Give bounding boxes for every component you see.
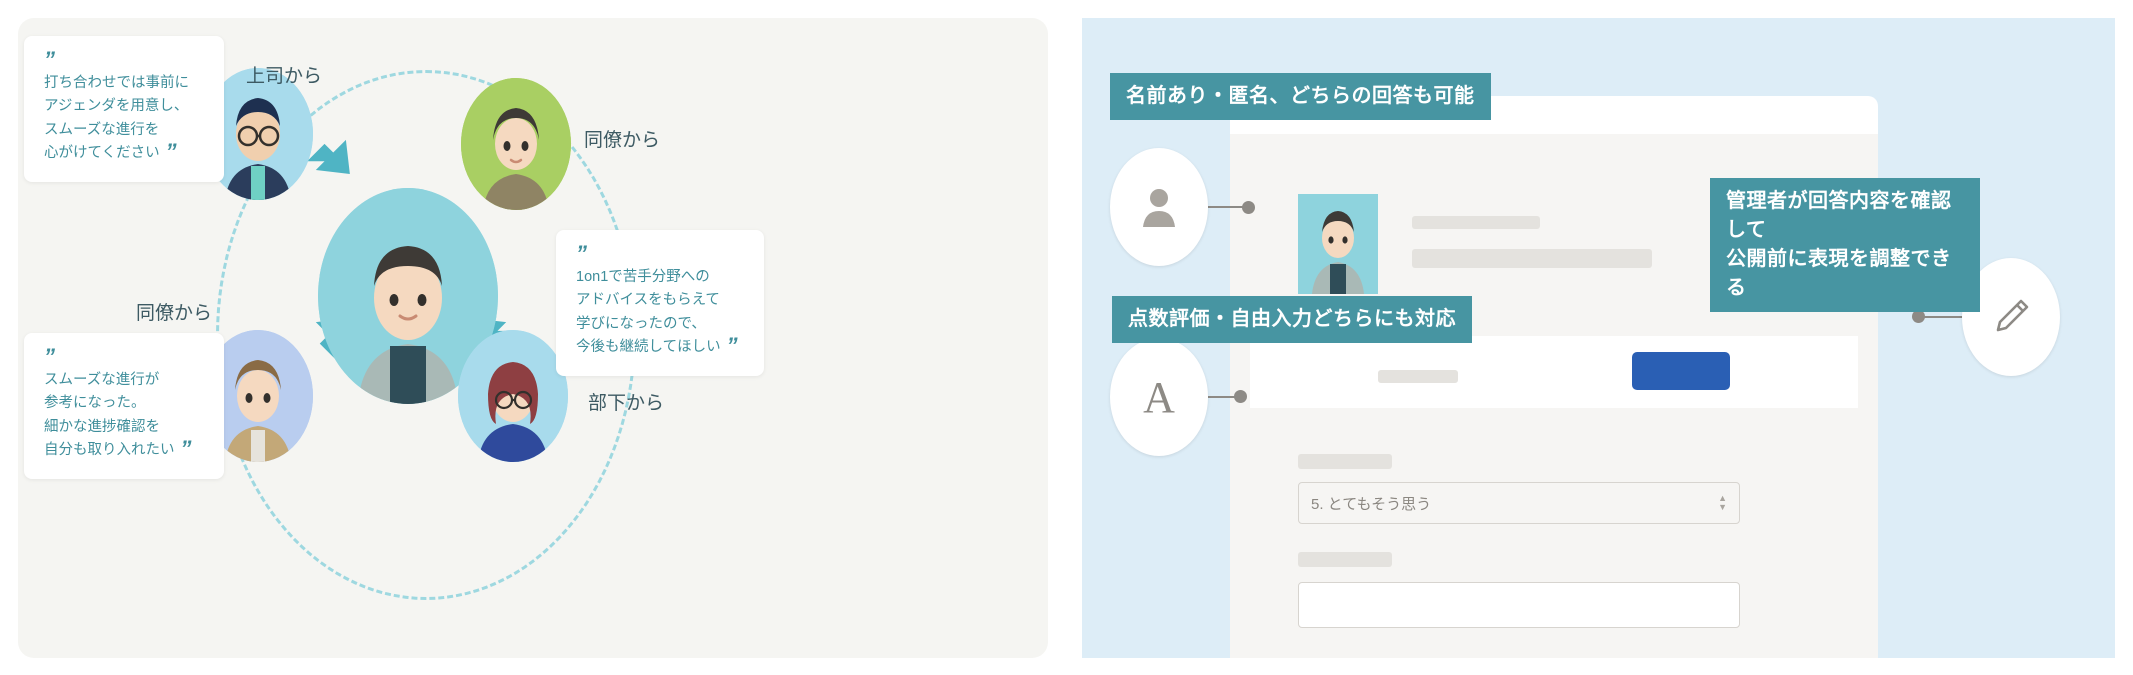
form-action-strip [1250,336,1858,408]
connector-line [1918,316,1966,318]
badge-free-text: A [1110,338,1208,456]
role-label-boss: 上司から [246,61,322,88]
role-label-colleague-bottom: 同僚から [136,298,212,325]
rating-select-value: 5. とてもそう思う [1311,493,1431,514]
role-label-subordinate: 部下から [588,388,664,415]
quote-text-boss: 打ち合わせでは事前に アジェンダを用意し、 スムーズな進行を 心がけてください” [44,72,206,166]
submit-button[interactable] [1632,352,1730,390]
placeholder-bar [1412,216,1540,229]
quote-line: 学びになったので、 [576,313,746,336]
feedback-diagram-panel: 上司から 同僚から 同僚から 部下から ” 打ち合わせでは事前に アジェンダを用… [18,18,1048,658]
quote-line: 参考になった。 [44,392,206,415]
quote-card-boss: ” 打ち合わせでは事前に アジェンダを用意し、 スムーズな進行を 心がけてくださ… [24,36,224,182]
connector-dot [1234,390,1247,403]
quote-line-last: 自分も取り入れたい” [44,439,206,462]
quote-card-colleague: ” スムーズな進行が 参考になった。 細かな進捗確認を 自分も取り入れたい” [24,333,224,479]
quote-line: アジェンダを用意し、 [44,95,206,118]
respondent-photo [1298,194,1378,294]
quote-line-last: 今後も継続してほしい” [576,336,746,359]
quote-close-mark-icon: ” [166,142,176,162]
quote-line: アドバイスをもらえて [576,289,746,312]
quote-open-mark-icon: ” [44,347,206,367]
quote-line-last: 心がけてください” [44,142,206,165]
callout-admin-review: 管理者が回答内容を確認して 公開前に表現を調整できる [1710,178,1980,312]
callout-admin-line-2: 公開前に表現を調整できる [1726,248,1952,299]
quote-line: 打ち合わせでは事前に [44,72,206,95]
callout-anonymous-option: 名前あり・匿名、どちらの回答も可能 [1110,73,1491,120]
avatar-subordinate [458,330,568,462]
rating-select[interactable]: 5. とてもそう思う ▲ ▼ [1298,482,1740,524]
field-label-placeholder [1298,454,1392,469]
pencil-icon [1988,294,2034,340]
callout-score-or-freetext: 点数評価・自由入力どちらにも対応 [1112,296,1472,343]
quote-card-subordinate: ” 1on1で苦手分野への アドバイスをもらえて 学びになったので、 今後も継続… [556,230,764,376]
arrow-down-right-icon [308,136,364,192]
quote-open-mark-icon: ” [44,50,206,70]
quote-text-colleague: スムーズな進行が 参考になった。 細かな進捗確認を 自分も取り入れたい” [44,369,206,463]
badge-anonymous-respondent [1110,148,1208,266]
quote-close-mark-icon: ” [181,439,191,459]
role-label-colleague-top: 同僚から [584,125,660,152]
callout-admin-line-1: 管理者が回答内容を確認して [1726,190,1952,241]
quote-line: 1on1で苦手分野への [576,266,746,289]
survey-form-panel: 5. とてもそう思う ▲ ▼ A [1082,18,2115,658]
chevron-down-icon[interactable]: ▼ [1718,502,1727,512]
quote-text-subordinate: 1on1で苦手分野への アドバイスをもらえて 学びになったので、 今後も継続して… [576,266,746,360]
field-label-placeholder [1298,552,1392,567]
placeholder-bar [1378,370,1458,383]
quote-line: スムーズな進行を [44,119,206,142]
letter-a-icon: A [1143,372,1175,423]
quote-close-mark-icon: ” [727,336,737,356]
free-text-input[interactable] [1298,582,1740,628]
quote-line: スムーズな進行が [44,369,206,392]
avatar-colleague-top [461,78,571,210]
select-stepper-icon[interactable]: ▲ ▼ [1718,494,1727,512]
quote-open-mark-icon: ” [576,244,746,264]
infographic-root: 上司から 同僚から 同僚から 部下から ” 打ち合わせでは事前に アジェンダを用… [0,0,2133,675]
360-feedback-diagram: 上司から 同僚から 同僚から 部下から ” 打ち合わせでは事前に アジェンダを用… [18,18,1048,658]
placeholder-bar [1412,249,1652,268]
connector-dot [1242,201,1255,214]
person-icon [1139,185,1179,229]
